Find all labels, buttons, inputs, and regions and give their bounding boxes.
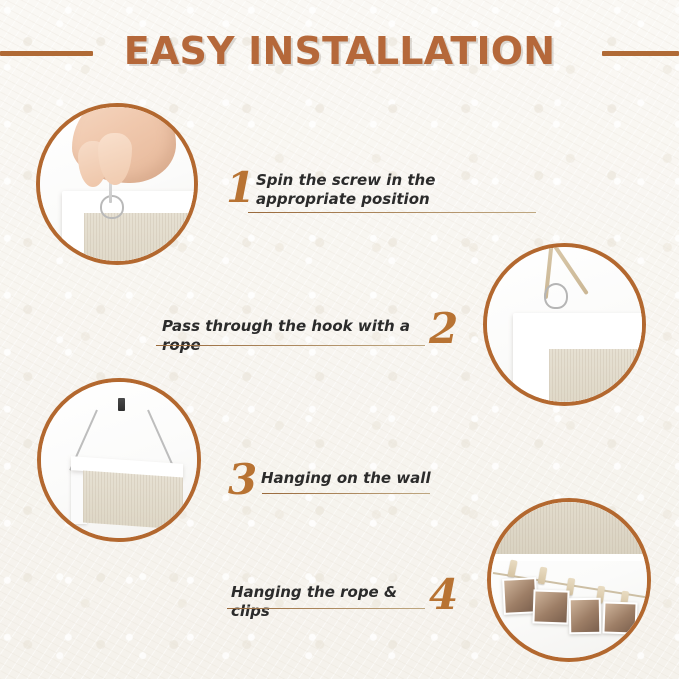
step-2-photo [483,243,646,406]
step-2-text: Pass through the hook with a rope [162,317,434,355]
step-3-photo [37,378,201,542]
step-2-underline [156,345,425,346]
scene-rope-clips [491,502,647,658]
step-1-photo [36,103,198,265]
step-2-number: 2 [429,307,458,351]
hook-ring-icon [544,283,568,309]
step-4-number: 4 [429,573,458,617]
step-2: Pass through the hook with a rope 2 [156,307,456,363]
clipped-photo [569,598,602,635]
step-1-number: 1 [226,166,255,210]
step-1: 1 Spin the screw in the appropriate posi… [226,164,526,224]
clipped-photo [602,601,637,634]
step-3-number: 3 [228,458,257,502]
page-title: EASY INSTALLATION [0,22,679,80]
linen-board [487,498,651,554]
screw-hook-icon [100,195,124,219]
scene-hanging-wall [41,382,197,538]
step-1-underline [248,212,536,213]
step-3-text: Hanging on the wall [261,469,461,488]
step-4-text: Hanging the rope & clips [231,583,431,621]
header: EASY INSTALLATION [0,22,679,84]
step-4-underline [227,608,425,609]
step-4: Hanging the rope & clips 4 [227,573,467,625]
linen-mat [83,471,183,530]
step-3-underline [262,493,430,494]
clipped-photo [532,589,569,624]
linen-mat [549,349,646,406]
scene-hand-screw [40,107,194,261]
step-4-photo [487,498,651,662]
step-3: 3 Hanging on the wall [228,458,468,508]
scene-rope-hook [487,247,642,402]
wall-nail-icon [118,398,125,411]
step-1-text: Spin the screw in the appropriate positi… [256,171,526,209]
linen-mat [84,213,198,265]
